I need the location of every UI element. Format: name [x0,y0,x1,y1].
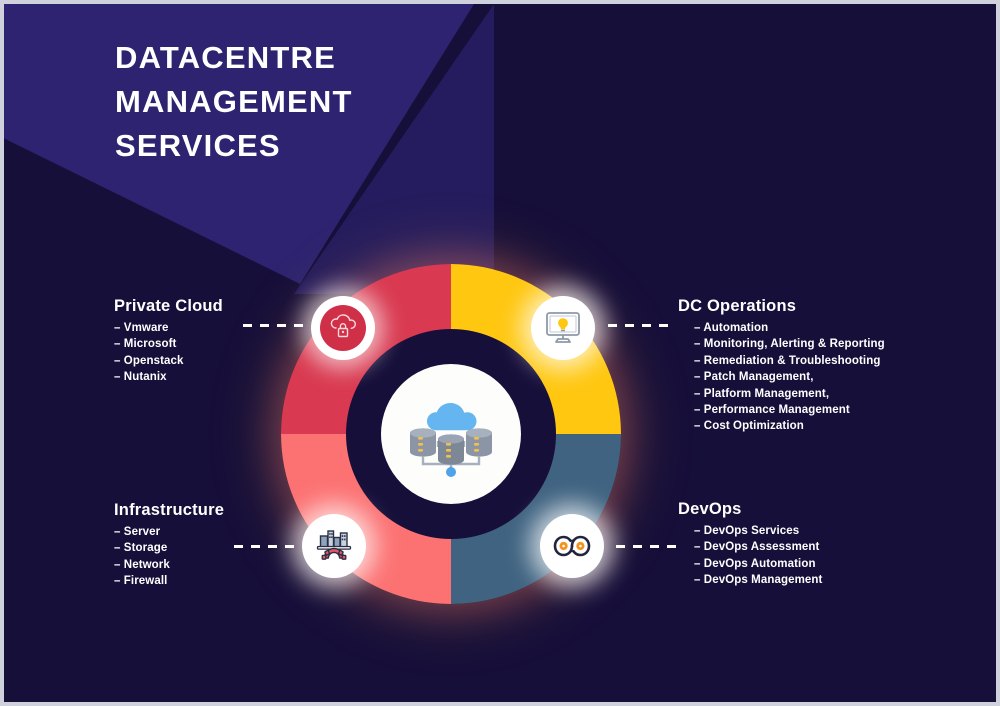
block-list: Automation Monitoring, Alerting & Report… [678,320,885,435]
cloud-database-network-icon [403,389,499,479]
node-circle [541,515,603,577]
page-title: Datacentre Management Services [115,36,445,168]
list-item: Patch Management, [694,369,885,385]
dash [234,545,243,548]
dash [616,545,625,548]
node-circle [532,297,594,359]
dash [277,324,286,327]
connector-devops [616,545,676,548]
dash [251,545,260,548]
block-private-cloud: Private Cloud Vmware Microsoft Openstack… [114,297,223,386]
list-item: Cost Optimization [694,418,885,434]
monitor-lightbulb-icon [545,311,581,345]
node-circle [312,297,374,359]
dash [642,324,651,327]
node-devops[interactable] [536,510,608,582]
list-item: Monitoring, Alerting & Reporting [694,336,885,352]
dash [667,545,676,548]
block-list: Vmware Microsoft Openstack Nutanix [114,320,223,386]
list-item: Microsoft [114,336,223,352]
node-disc [320,305,366,351]
title-line-2: Management [115,80,445,124]
list-item: DevOps Assessment [694,539,822,555]
infographic-canvas: Datacentre Management Services [4,4,996,702]
list-item: DevOps Services [694,523,822,539]
node-circle [303,515,365,577]
block-heading: DC Operations [678,297,885,316]
donut-chart [247,230,655,638]
list-item: Automation [694,320,885,336]
dash [659,324,668,327]
node-dc-operations[interactable] [527,292,599,364]
dash [294,324,303,327]
block-heading: DevOps [678,500,822,519]
block-dc-operations: DC Operations Automation Monitoring, Ale… [678,297,885,435]
connector-infrastructure [234,545,294,548]
node-private-cloud[interactable] [307,292,379,364]
block-list: DevOps Services DevOps Assessment DevOps… [678,523,822,589]
list-item: Remediation & Troubleshooting [694,353,885,369]
list-item: Firewall [114,573,224,589]
list-item: Platform Management, [694,386,885,402]
list-item: Storage [114,540,224,556]
dash [650,545,659,548]
cloud-lock-icon [328,314,358,342]
list-item: DevOps Automation [694,556,822,572]
list-item: Nutanix [114,369,223,385]
list-item: Openstack [114,353,223,369]
list-item: Vmware [114,320,223,336]
dash [268,545,277,548]
dash [285,545,294,548]
block-heading: Infrastructure [114,501,224,520]
block-devops: DevOps DevOps Services DevOps Assessment… [678,500,822,589]
list-item: DevOps Management [694,572,822,588]
list-item: Performance Management [694,402,885,418]
devops-infinity-icon [552,531,592,561]
dash [625,324,634,327]
block-list: Server Storage Network Firewall [114,524,224,590]
block-heading: Private Cloud [114,297,223,316]
center-badge [381,364,521,504]
dash [633,545,642,548]
dash [243,324,252,327]
node-infrastructure[interactable] [298,510,370,582]
connector-dc-operations [608,324,668,327]
buildings-gear-icon [314,527,354,565]
block-infrastructure: Infrastructure Server Storage Network Fi… [114,501,224,590]
title-line-1: Datacentre [115,36,445,80]
connector-private-cloud [243,324,303,327]
list-item: Server [114,524,224,540]
list-item: Network [114,557,224,573]
title-line-3: Services [115,124,445,168]
dash [260,324,269,327]
dash [608,324,617,327]
